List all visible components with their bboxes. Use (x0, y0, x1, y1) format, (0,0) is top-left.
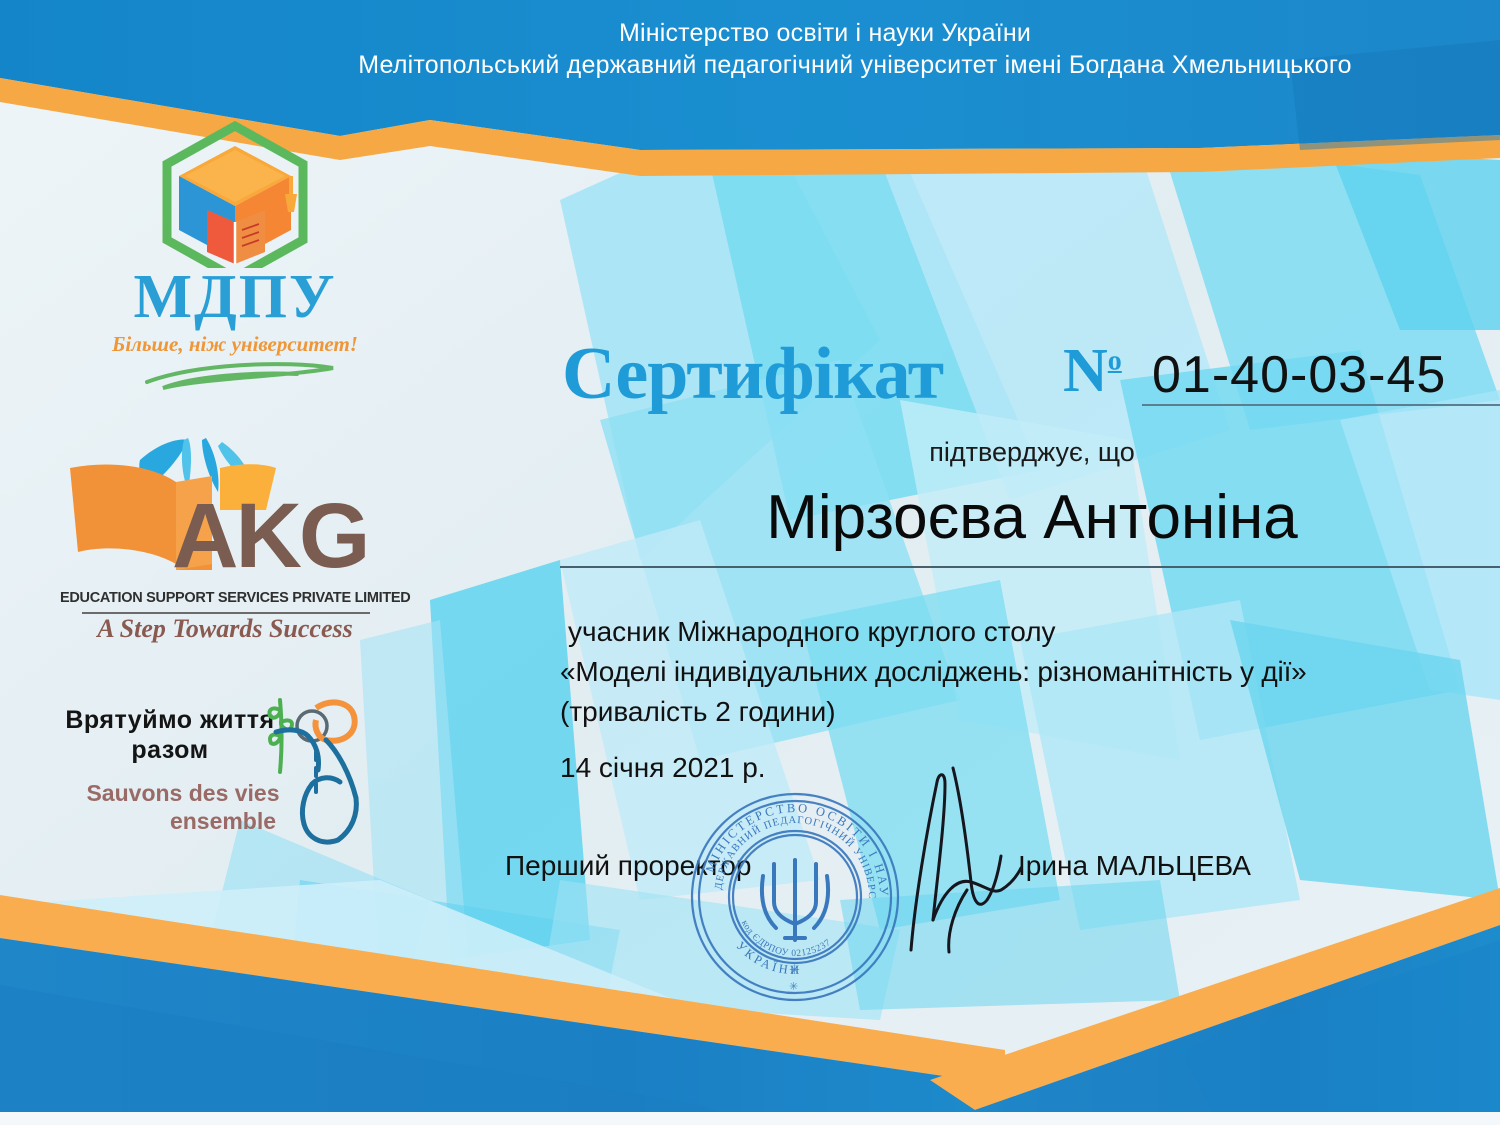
event-date: 14 січня 2021 р. (560, 752, 766, 784)
angel-with-sprig-icon (246, 694, 396, 854)
akg-tagline: A Step Towards Success (60, 614, 390, 644)
mdpu-acronym: МДПУ (85, 266, 385, 328)
event-role-line: учасник Міжнародного круглого столу (560, 612, 1500, 652)
confirm-text: підтверджує, що (562, 437, 1500, 468)
svg-text:✳: ✳ (789, 962, 800, 977)
logo-akg: AKG EDUCATION SUPPORT SERVICES PRIVATE L… (60, 432, 390, 642)
mdpu-hexagon-cube-icon (85, 118, 385, 268)
event-description: учасник Міжнародного круглого столу «Мод… (560, 612, 1500, 731)
ukrainian-trident-icon (762, 860, 828, 940)
akg-subtitle: EDUCATION SUPPORT SERVICES PRIVATE LIMIT… (60, 590, 390, 606)
svg-text:✳: ✳ (789, 981, 798, 993)
recipient-name: Мірзоєва Антоніна (562, 482, 1500, 553)
certificate-number: 01-40-03-45 (1152, 345, 1446, 405)
official-seal: МІНІСТЕРСТВО ОСВІТИ І НАУКИ УКРАЇНИ ДЕРЖ… (688, 790, 903, 1005)
event-title-line: «Моделі індивідуальних досліджень: різно… (560, 652, 1500, 692)
page-title: Сертифікат (562, 332, 943, 417)
logo-save-lives: Врятуймо життя разом Sauvons des vies en… (50, 688, 390, 848)
handwritten-signature (875, 760, 1055, 960)
recipient-name-underline (560, 566, 1500, 568)
certificate-number-underline (1142, 404, 1500, 406)
logo-mdpu: МДПУ Більше, ніж університет! (85, 118, 385, 368)
event-duration-line: (тривалість 2 години) (560, 692, 1500, 732)
certificate-document: Міністерство освіти і науки України Мелі… (0, 0, 1500, 1125)
numero-symbol: No (1063, 336, 1122, 407)
mdpu-green-swoosh-icon (85, 354, 385, 394)
akg-acronym: AKG (172, 490, 367, 582)
